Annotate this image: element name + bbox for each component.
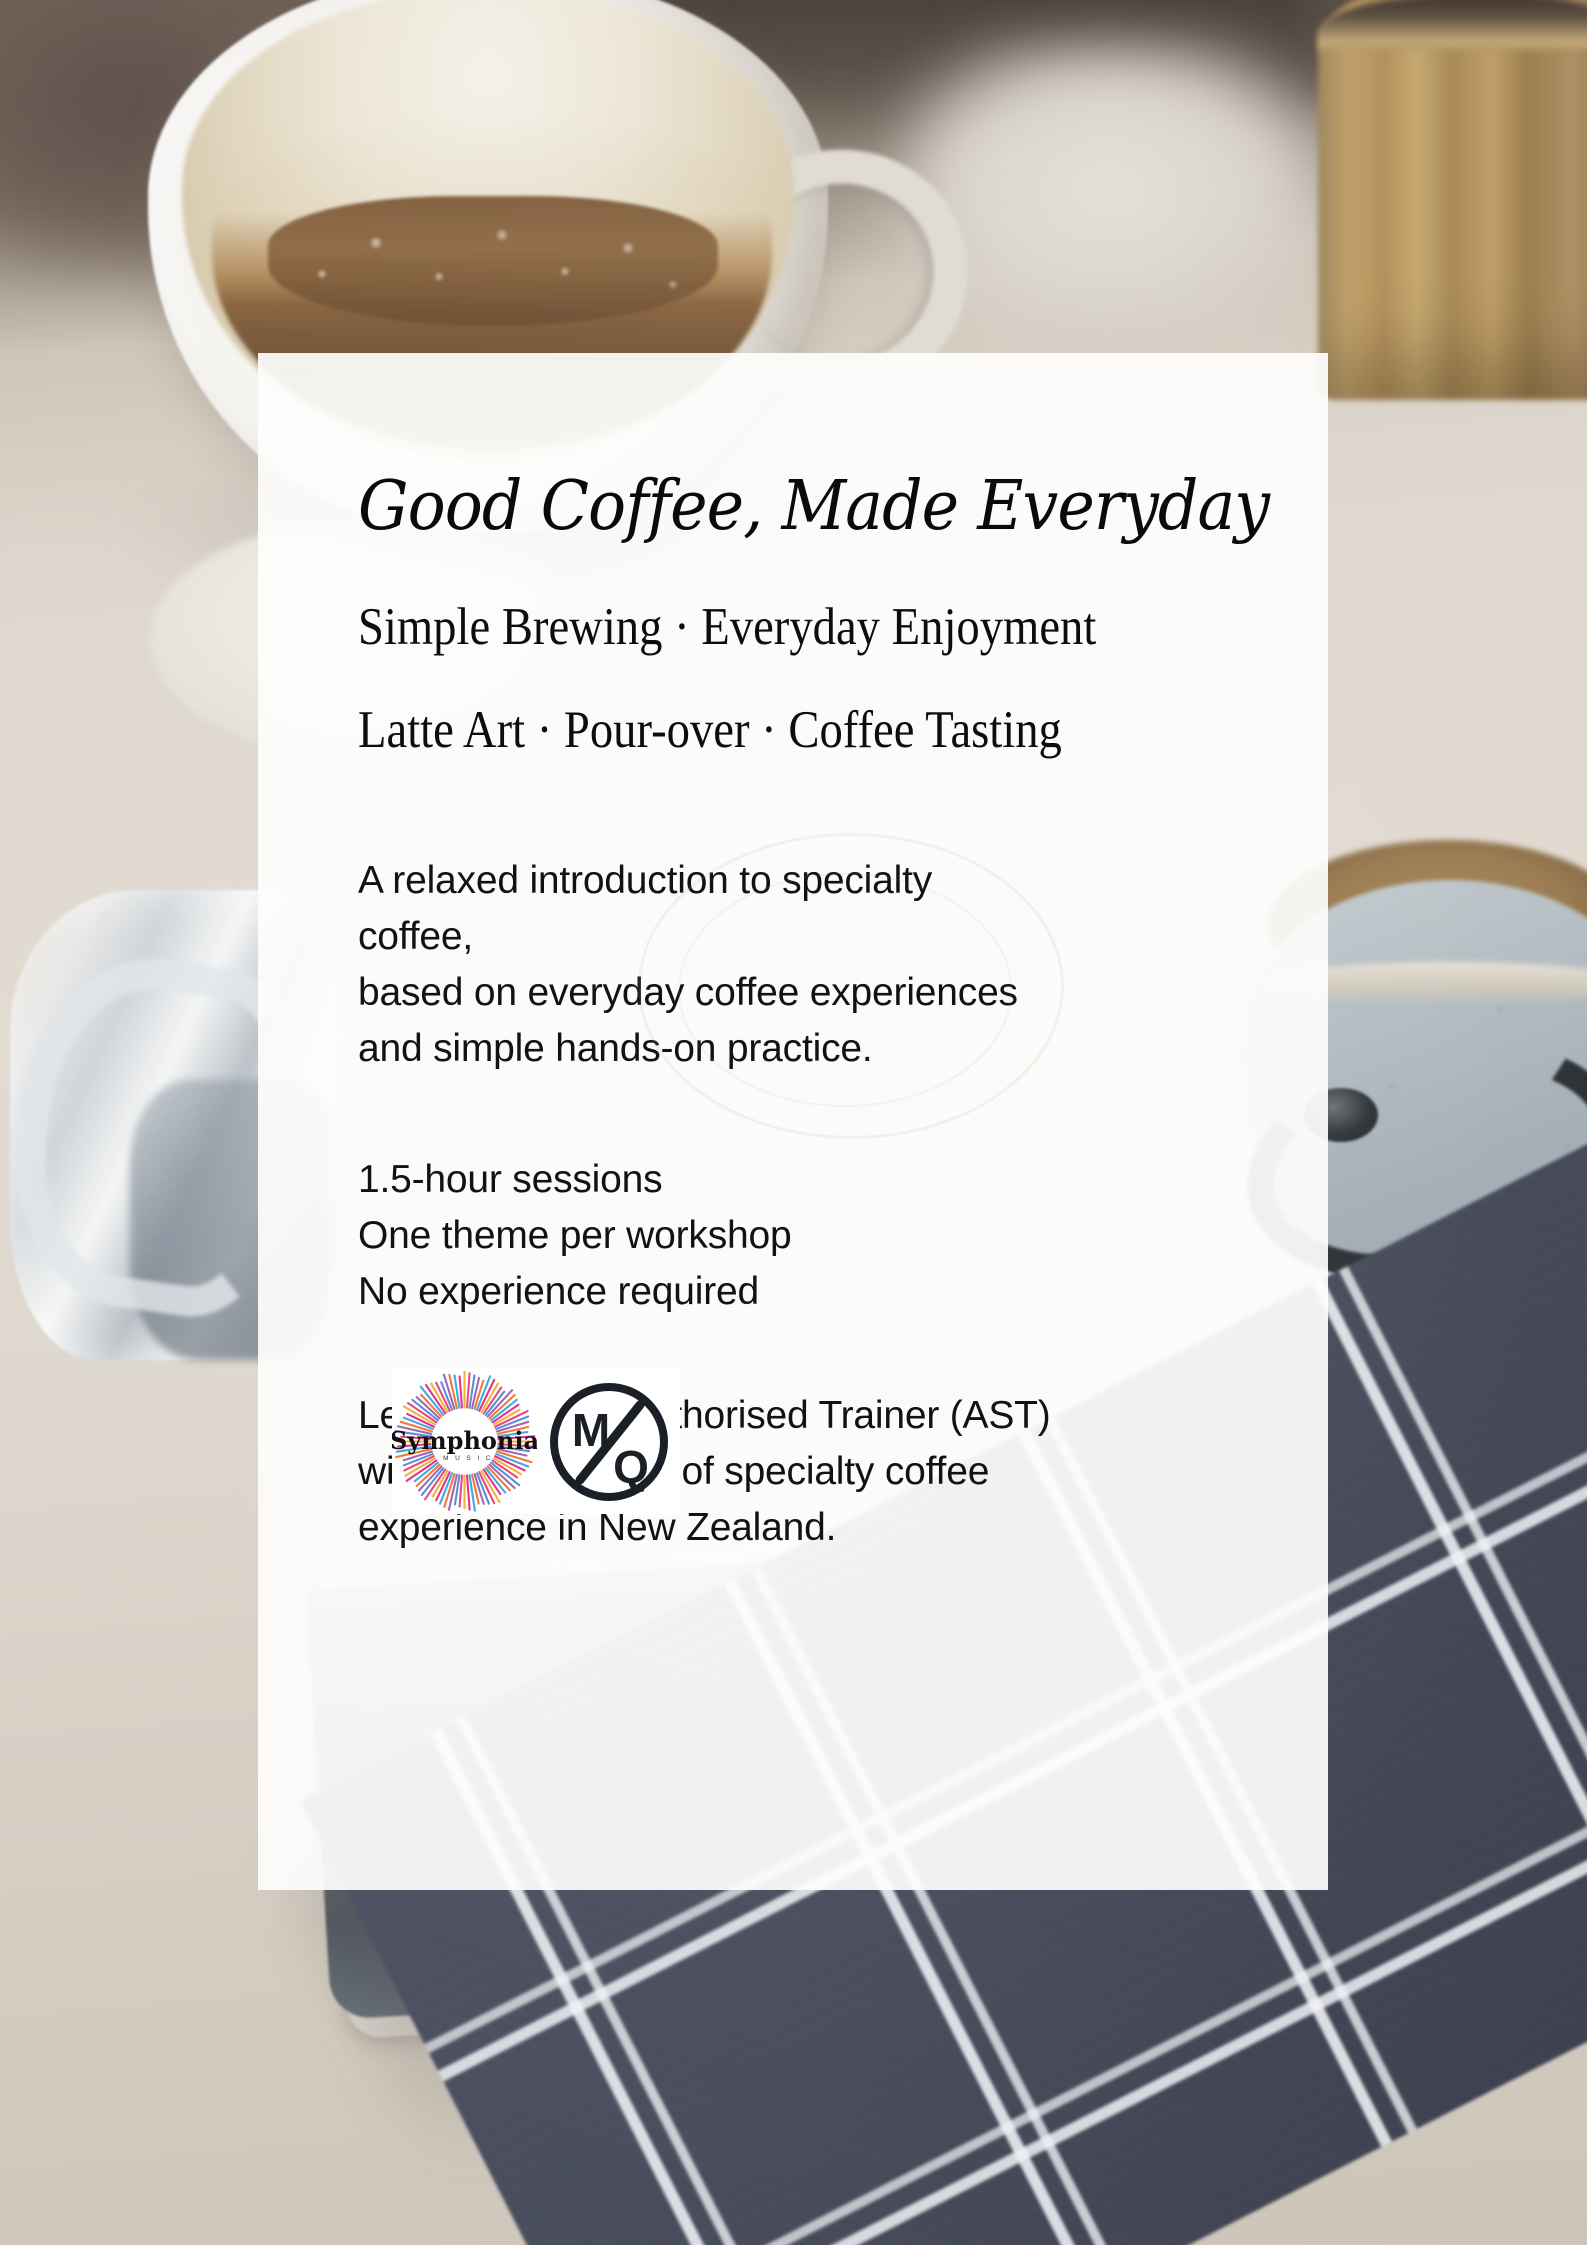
spacer-before-details <box>358 1078 1228 1152</box>
poster-canvas: 8 15 计时 Good Coffee, Made Everyday Simpl… <box>0 0 1587 2245</box>
detail-line-2: One theme per workshop <box>358 1208 1228 1264</box>
svg-text:Symphonia: Symphonia <box>392 1426 537 1455</box>
details-paragraph: 1.5-hour sessions One theme per workshop… <box>358 1152 1228 1320</box>
brass-vessel <box>1318 0 1587 400</box>
intro-paragraph: A relaxed introduction to specialty coff… <box>358 853 1228 1078</box>
intro-line-2: coffee, <box>358 909 1228 965</box>
page-title: Good Coffee, Made Everyday <box>358 473 1167 541</box>
subheading-topics: Latte Art · Pour-over · Coffee Tasting <box>358 704 1124 757</box>
crema-bubbles <box>268 196 718 326</box>
logo-strip: Symphonia M U S I C M Q <box>392 1369 680 1514</box>
symphonia-sunburst-icon: Symphonia M U S I C <box>392 1369 537 1514</box>
spacer-after-subheads <box>358 807 1228 853</box>
svg-text:M: M <box>571 1404 609 1456</box>
detail-line-3: No experience required <box>358 1264 1228 1320</box>
content-card: Good Coffee, Made Everyday Simple Brewin… <box>258 353 1328 1890</box>
svg-text:Q: Q <box>613 1441 649 1493</box>
mq-monogram-icon: M Q <box>544 1377 674 1507</box>
intro-line-1: A relaxed introduction to specialty <box>358 853 1228 909</box>
detail-line-1: 1.5-hour sessions <box>358 1152 1228 1208</box>
intro-line-3: based on everyday coffee experiences <box>358 965 1228 1021</box>
symphonia-music-logo: Symphonia M U S I C <box>392 1369 537 1514</box>
mq-monogram-logo: M Q <box>537 1369 680 1514</box>
subheading-themes: Simple Brewing · Everyday Enjoyment <box>358 601 1124 654</box>
svg-text:M U S I C: M U S I C <box>443 1455 493 1462</box>
intro-line-4: and simple hands-on practice. <box>358 1021 1228 1077</box>
brass-vessel-rim <box>1318 0 1587 50</box>
